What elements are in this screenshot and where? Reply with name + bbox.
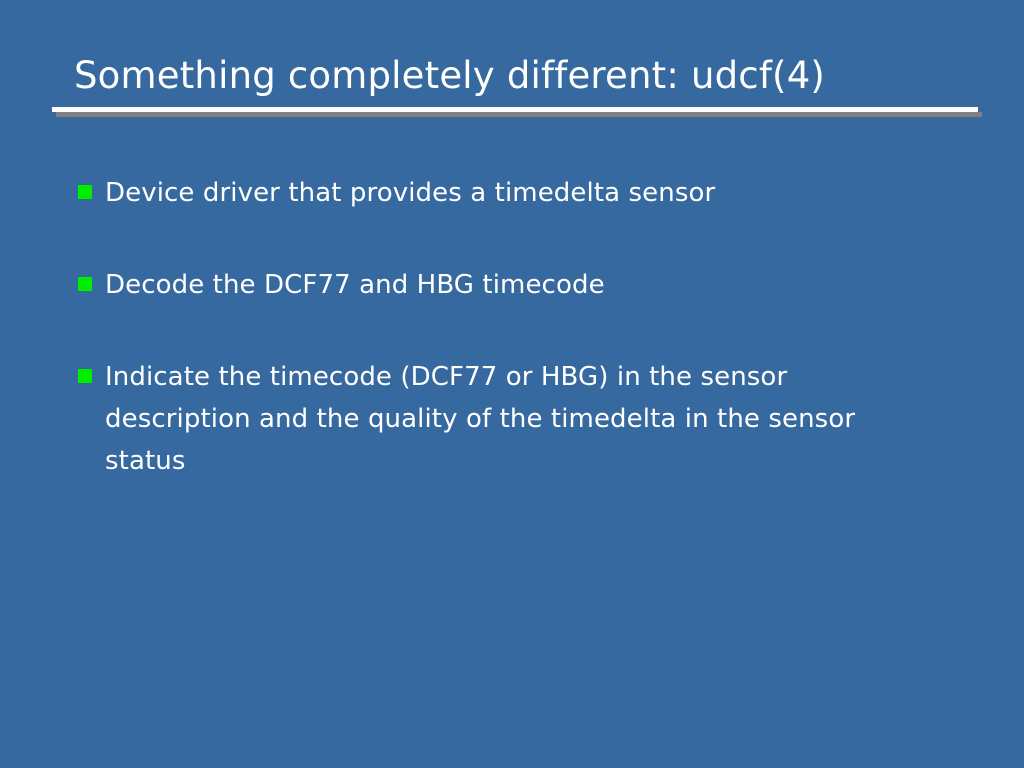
green-square-bullet-icon bbox=[78, 369, 92, 383]
list-item: Decode the DCF77 and HBG timecode bbox=[78, 264, 958, 306]
bullet-text: Indicate the timecode (DCF77 or HBG) in … bbox=[105, 356, 935, 482]
title-underline-shadow bbox=[56, 112, 982, 117]
green-square-bullet-icon bbox=[78, 277, 92, 291]
slide-body: Device driver that provides a timedelta … bbox=[78, 172, 958, 482]
presentation-slide: Something completely different: udcf(4) … bbox=[0, 0, 1024, 768]
green-square-bullet-icon bbox=[78, 185, 92, 199]
list-item: Device driver that provides a timedelta … bbox=[78, 172, 958, 214]
slide-title-block: Something completely different: udcf(4) bbox=[52, 52, 982, 119]
title-underline-bar bbox=[52, 107, 978, 112]
bullet-text: Decode the DCF77 and HBG timecode bbox=[105, 264, 958, 306]
title-underline bbox=[52, 107, 978, 119]
bullet-text: Device driver that provides a timedelta … bbox=[105, 172, 958, 214]
list-item: Indicate the timecode (DCF77 or HBG) in … bbox=[78, 356, 958, 482]
slide-title: Something completely different: udcf(4) bbox=[52, 52, 982, 100]
